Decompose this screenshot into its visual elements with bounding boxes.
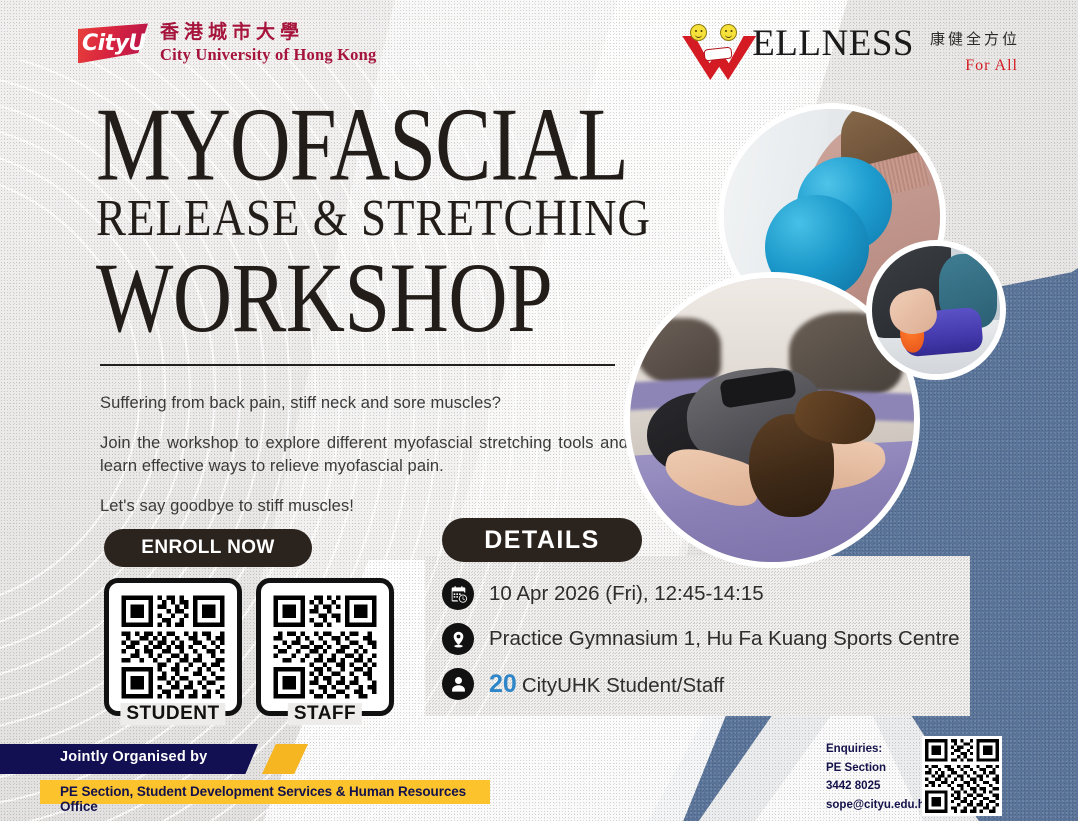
enroll-now-button[interactable]: ENROLL NOW	[104, 529, 312, 567]
jointly-organised-banner: Jointly Organised by	[0, 744, 230, 774]
organisers-text: PE Section, Student Development Services…	[60, 784, 490, 814]
cityu-triangle-mark: CityU	[78, 23, 148, 63]
qr-enquiries-image	[922, 736, 1002, 816]
wellness-text-block: ELLNESS 康健全方位 For All	[752, 26, 1020, 75]
title-divider-rule	[100, 364, 615, 366]
detail-row-datetime: 10 Apr 2026 (Fri), 12:45-14:15	[442, 578, 764, 610]
detail-datetime-text: 10 Apr 2026 (Fri), 12:45-14:15	[489, 582, 764, 606]
capacity-number: 20	[489, 670, 517, 698]
calendar-clock-icon	[442, 578, 474, 610]
cityu-logo: CityU 香港城市大學 City University of Hong Kon…	[78, 22, 376, 65]
cityu-name-en: City University of Hong Kong	[160, 45, 376, 65]
smiley-face-left-icon	[690, 24, 707, 41]
enquiries-block: Enquiries: PE Section 3442 8025 sope@cit…	[826, 740, 931, 815]
organisers-bar: PE Section, Student Development Services…	[40, 780, 490, 804]
capacity-audience: CityUHK Student/Staff	[522, 674, 724, 697]
handshake-icon	[704, 47, 733, 62]
wellness-word: ELLNESS	[752, 26, 914, 61]
detail-location-text: Practice Gymnasium 1, Hu Fa Kuang Sports…	[489, 627, 960, 651]
wellness-logo: ELLNESS 康健全方位 For All	[682, 22, 1020, 80]
photo-foam-roller	[866, 240, 1006, 380]
body-paragraph-2: Join the workshop to explore different m…	[100, 432, 628, 477]
qr-code-student[interactable]: STUDENT	[104, 578, 242, 716]
enquiries-email: sope@cityu.edu.hk	[826, 796, 931, 815]
poster-canvas: CityU 香港城市大學 City University of Hong Kon…	[0, 0, 1078, 821]
enroll-now-label: ENROLL NOW	[141, 537, 274, 559]
qr-staff-label: STAFF	[288, 703, 362, 725]
cityu-name-zh: 香港城市大學	[160, 22, 376, 43]
cityu-wordmark: CityU	[82, 31, 146, 56]
jointly-organised-label: Jointly Organised by	[60, 749, 207, 765]
title-line-2: RELEASE & STRETCHING	[96, 192, 736, 244]
smiley-face-right-icon	[720, 24, 737, 41]
detail-row-capacity: 20CityUHK Student/Staff	[442, 668, 724, 700]
person-icon	[442, 668, 474, 700]
qr-staff-image	[269, 591, 381, 703]
enquiries-unit: PE Section	[826, 759, 931, 778]
qr-code-enquiries[interactable]	[922, 736, 1002, 816]
qr-student-label: STUDENT	[120, 703, 225, 725]
enquiries-phone: 3442 8025	[826, 777, 931, 796]
enquiries-title: Enquiries:	[826, 740, 931, 759]
detail-row-location: Practice Gymnasium 1, Hu Fa Kuang Sports…	[442, 623, 960, 655]
body-copy: Suffering from back pain, stiff neck and…	[100, 392, 628, 535]
body-paragraph-1: Suffering from back pain, stiff neck and…	[100, 392, 628, 414]
location-pin-icon	[442, 623, 474, 655]
wellness-tagline: For All	[965, 57, 1018, 75]
details-badge: DETAILS	[442, 518, 642, 562]
body-paragraph-3: Let's say goodbye to stiff muscles!	[100, 495, 628, 517]
detail-capacity-text: 20CityUHK Student/Staff	[489, 670, 724, 699]
wellness-zh: 康健全方位	[930, 28, 1020, 49]
details-badge-label: DETAILS	[484, 526, 600, 555]
qr-student-image	[117, 591, 229, 703]
cityu-name-block: 香港城市大學 City University of Hong Kong	[160, 22, 376, 65]
wellness-w-icon	[682, 22, 756, 80]
qr-code-staff[interactable]: STAFF	[256, 578, 394, 716]
title-line-1: MYOFASCIAL	[96, 100, 723, 190]
